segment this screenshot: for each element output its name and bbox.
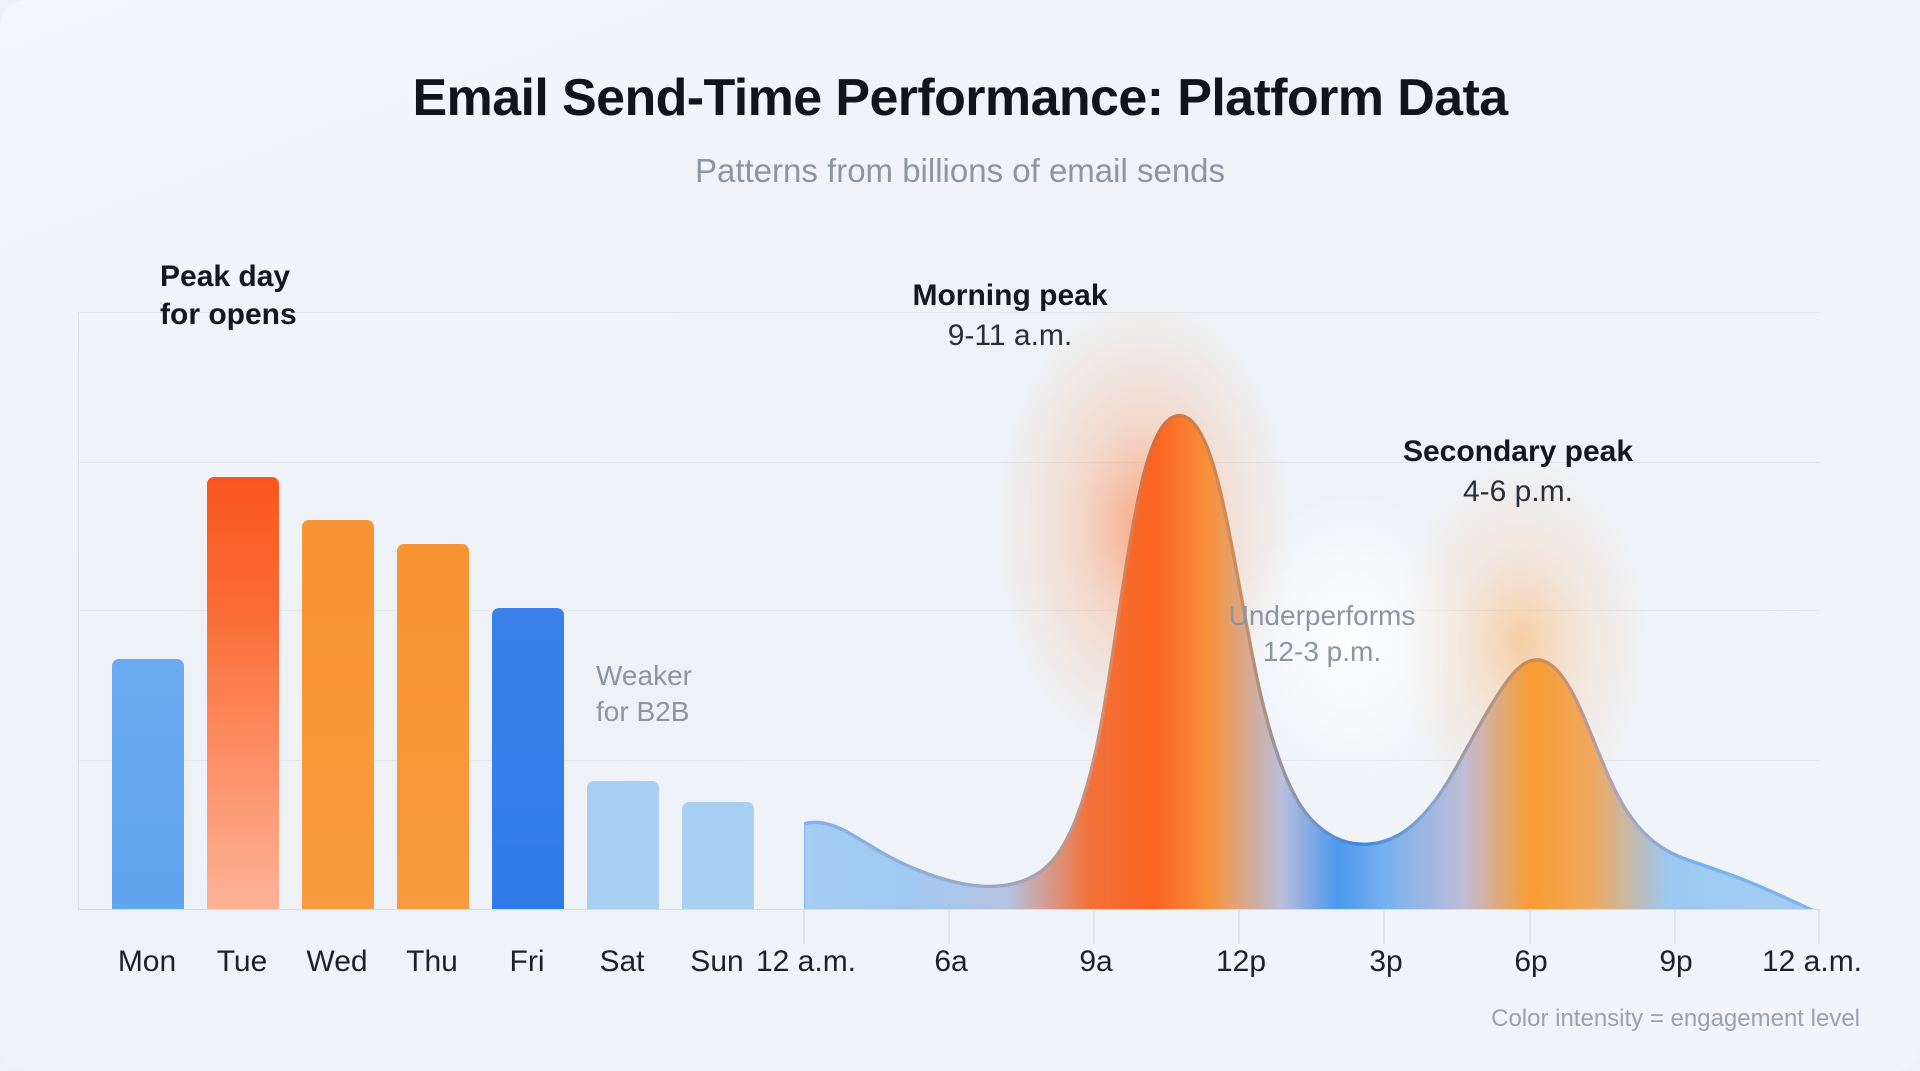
- annotation-secondary-peak-line2: 4-6 p.m.: [1403, 472, 1633, 512]
- bar-mon[interactable]: [112, 659, 184, 909]
- y-axis-line: [78, 312, 79, 910]
- xtick-9p: 9p: [1659, 945, 1692, 979]
- bar-series: [100, 312, 770, 909]
- xtick-12p: 12p: [1216, 945, 1266, 979]
- bar-slot-wed[interactable]: [290, 312, 385, 909]
- annotation-underperforms-line1: Underperforms: [1229, 598, 1416, 634]
- xtick-sun: Sun: [690, 945, 743, 979]
- bar-slot-sat[interactable]: [575, 312, 670, 909]
- annotation-morning-peak: Morning peak 9-11 a.m.: [912, 276, 1107, 355]
- xtick-3p: 3p: [1369, 945, 1402, 979]
- bar-slot-tue[interactable]: [195, 312, 290, 909]
- annotation-secondary-peak-line1: Secondary peak: [1403, 432, 1633, 472]
- xtick-9a: 9a: [1079, 945, 1112, 979]
- bar-thu[interactable]: [397, 544, 469, 909]
- page-subtitle: Patterns from billions of email sends: [0, 152, 1920, 190]
- xtick-thu: Thu: [406, 945, 458, 979]
- bar-sun[interactable]: [682, 802, 754, 909]
- xtick-6p: 6p: [1514, 945, 1547, 979]
- xtick-fri: Fri: [510, 945, 545, 979]
- annotation-weaker-b2b-line1: Weaker: [596, 658, 692, 694]
- annotation-peak-day-line1: Peak day: [160, 258, 297, 296]
- chart-canvas: Email Send-Time Performance: Platform Da…: [0, 0, 1920, 1071]
- annotation-weaker-b2b: Weaker for B2B: [596, 658, 692, 731]
- legend-note: Color intensity = engagement level: [1491, 1005, 1860, 1033]
- bar-slot-thu[interactable]: [385, 312, 480, 909]
- annotation-weaker-b2b-line2: for B2B: [596, 694, 692, 730]
- bar-wed[interactable]: [302, 520, 374, 909]
- bar-slot-fri[interactable]: [480, 312, 575, 909]
- time-axis-tick-marks: [78, 910, 1820, 944]
- xtick-mon: Mon: [118, 945, 176, 979]
- bar-slot-mon[interactable]: [100, 312, 195, 909]
- annotation-secondary-peak: Secondary peak 4-6 p.m.: [1403, 432, 1633, 511]
- annotation-peak-day: Peak day for opens: [160, 258, 297, 334]
- annotation-morning-peak-line2: 9-11 a.m.: [912, 316, 1107, 356]
- plot-area: [78, 312, 1820, 910]
- xtick-6a: 6a: [934, 945, 967, 979]
- xtick-wed: Wed: [306, 945, 367, 979]
- bar-slot-sun[interactable]: [670, 312, 765, 909]
- annotation-underperforms-line2: 12-3 p.m.: [1229, 634, 1416, 670]
- xtick-tue: Tue: [217, 945, 268, 979]
- xtick-12am-start: 12 a.m.: [756, 945, 856, 979]
- bar-fri[interactable]: [492, 608, 564, 909]
- annotation-underperforms: Underperforms 12-3 p.m.: [1229, 598, 1416, 671]
- xtick-12am-end: 12 a.m.: [1762, 945, 1862, 979]
- page-title: Email Send-Time Performance: Platform Da…: [0, 68, 1920, 128]
- bar-tue[interactable]: [207, 477, 279, 909]
- bar-sat[interactable]: [587, 781, 659, 909]
- annotation-peak-day-line2: for opens: [160, 296, 297, 334]
- annotation-morning-peak-line1: Morning peak: [912, 276, 1107, 316]
- xtick-sat: Sat: [599, 945, 644, 979]
